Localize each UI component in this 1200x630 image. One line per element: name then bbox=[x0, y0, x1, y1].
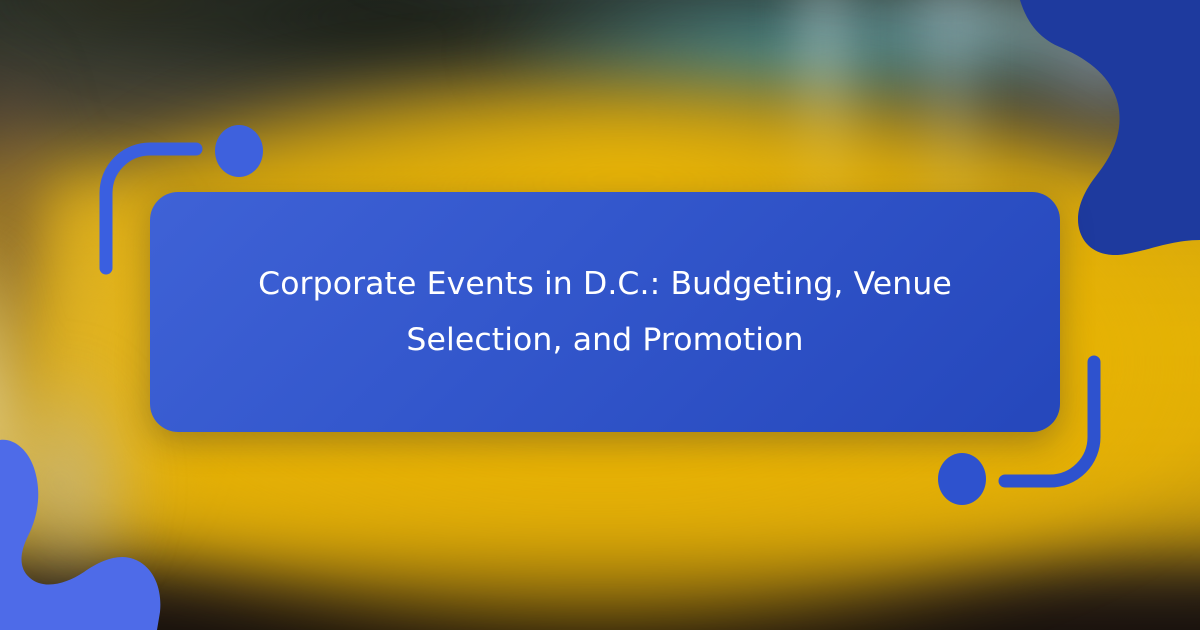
page-title: Corporate Events in D.C.: Budgeting, Ven… bbox=[235, 256, 975, 368]
title-card: Corporate Events in D.C.: Budgeting, Ven… bbox=[150, 192, 1060, 432]
social-share-card: Corporate Events in D.C.: Budgeting, Ven… bbox=[0, 0, 1200, 630]
